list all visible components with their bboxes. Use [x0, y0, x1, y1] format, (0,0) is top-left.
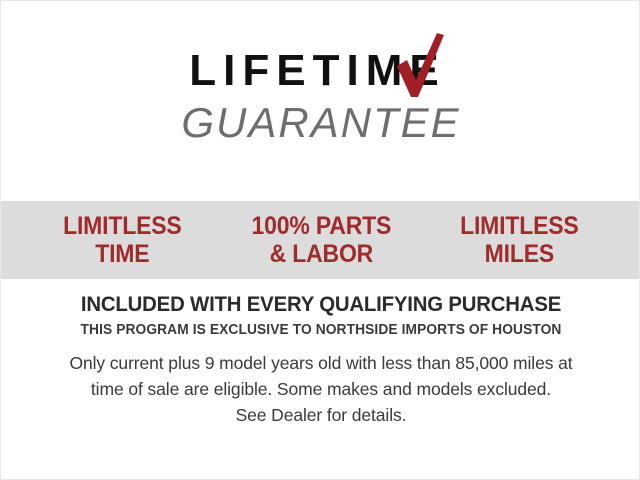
feature-parts-line2: & LABOR	[230, 240, 413, 268]
logo-lifetime-wrap: LIFETIME	[189, 49, 452, 93]
headline-primary: INCLUDED WITH EVERY QUALIFYING PURCHASE	[11, 293, 632, 317]
fineprint-block: Only current plus 9 model years old with…	[51, 351, 591, 429]
fineprint-line-1: Only current plus 9 model years old with…	[51, 351, 591, 377]
logo-secondary-text: GUARANTEE	[1, 102, 640, 144]
feature-column-parts-labor: 100% PARTS & LABOR	[230, 212, 413, 268]
feature-parts-line1: 100% PARTS	[230, 212, 413, 240]
feature-time-line2: TIME	[31, 240, 214, 268]
logo: LIFETIME GUARANTEE	[1, 49, 640, 144]
headline-block: INCLUDED WITH EVERY QUALIFYING PURCHASE …	[1, 293, 640, 340]
feature-column-time: LIMITLESS TIME	[31, 212, 214, 268]
logo-primary-text: LIFETIME	[189, 49, 452, 93]
feature-miles-line2: MILES	[428, 240, 611, 268]
features-band: LIMITLESS TIME 100% PARTS & LABOR LIMITL…	[1, 201, 640, 279]
fineprint-line-2: time of sale are eligible. Some makes an…	[51, 377, 591, 403]
headline-secondary: THIS PROGRAM IS EXCLUSIVE TO NORTHSIDE I…	[17, 322, 625, 339]
fineprint-line-3: See Dealer for details.	[51, 403, 591, 429]
feature-miles-line1: LIMITLESS	[428, 212, 611, 240]
feature-column-miles: LIMITLESS MILES	[428, 212, 611, 268]
promo-banner: LIFETIME GUARANTEE LIMITLESS TIME 100% P…	[0, 0, 640, 480]
feature-time-line1: LIMITLESS	[31, 212, 214, 240]
